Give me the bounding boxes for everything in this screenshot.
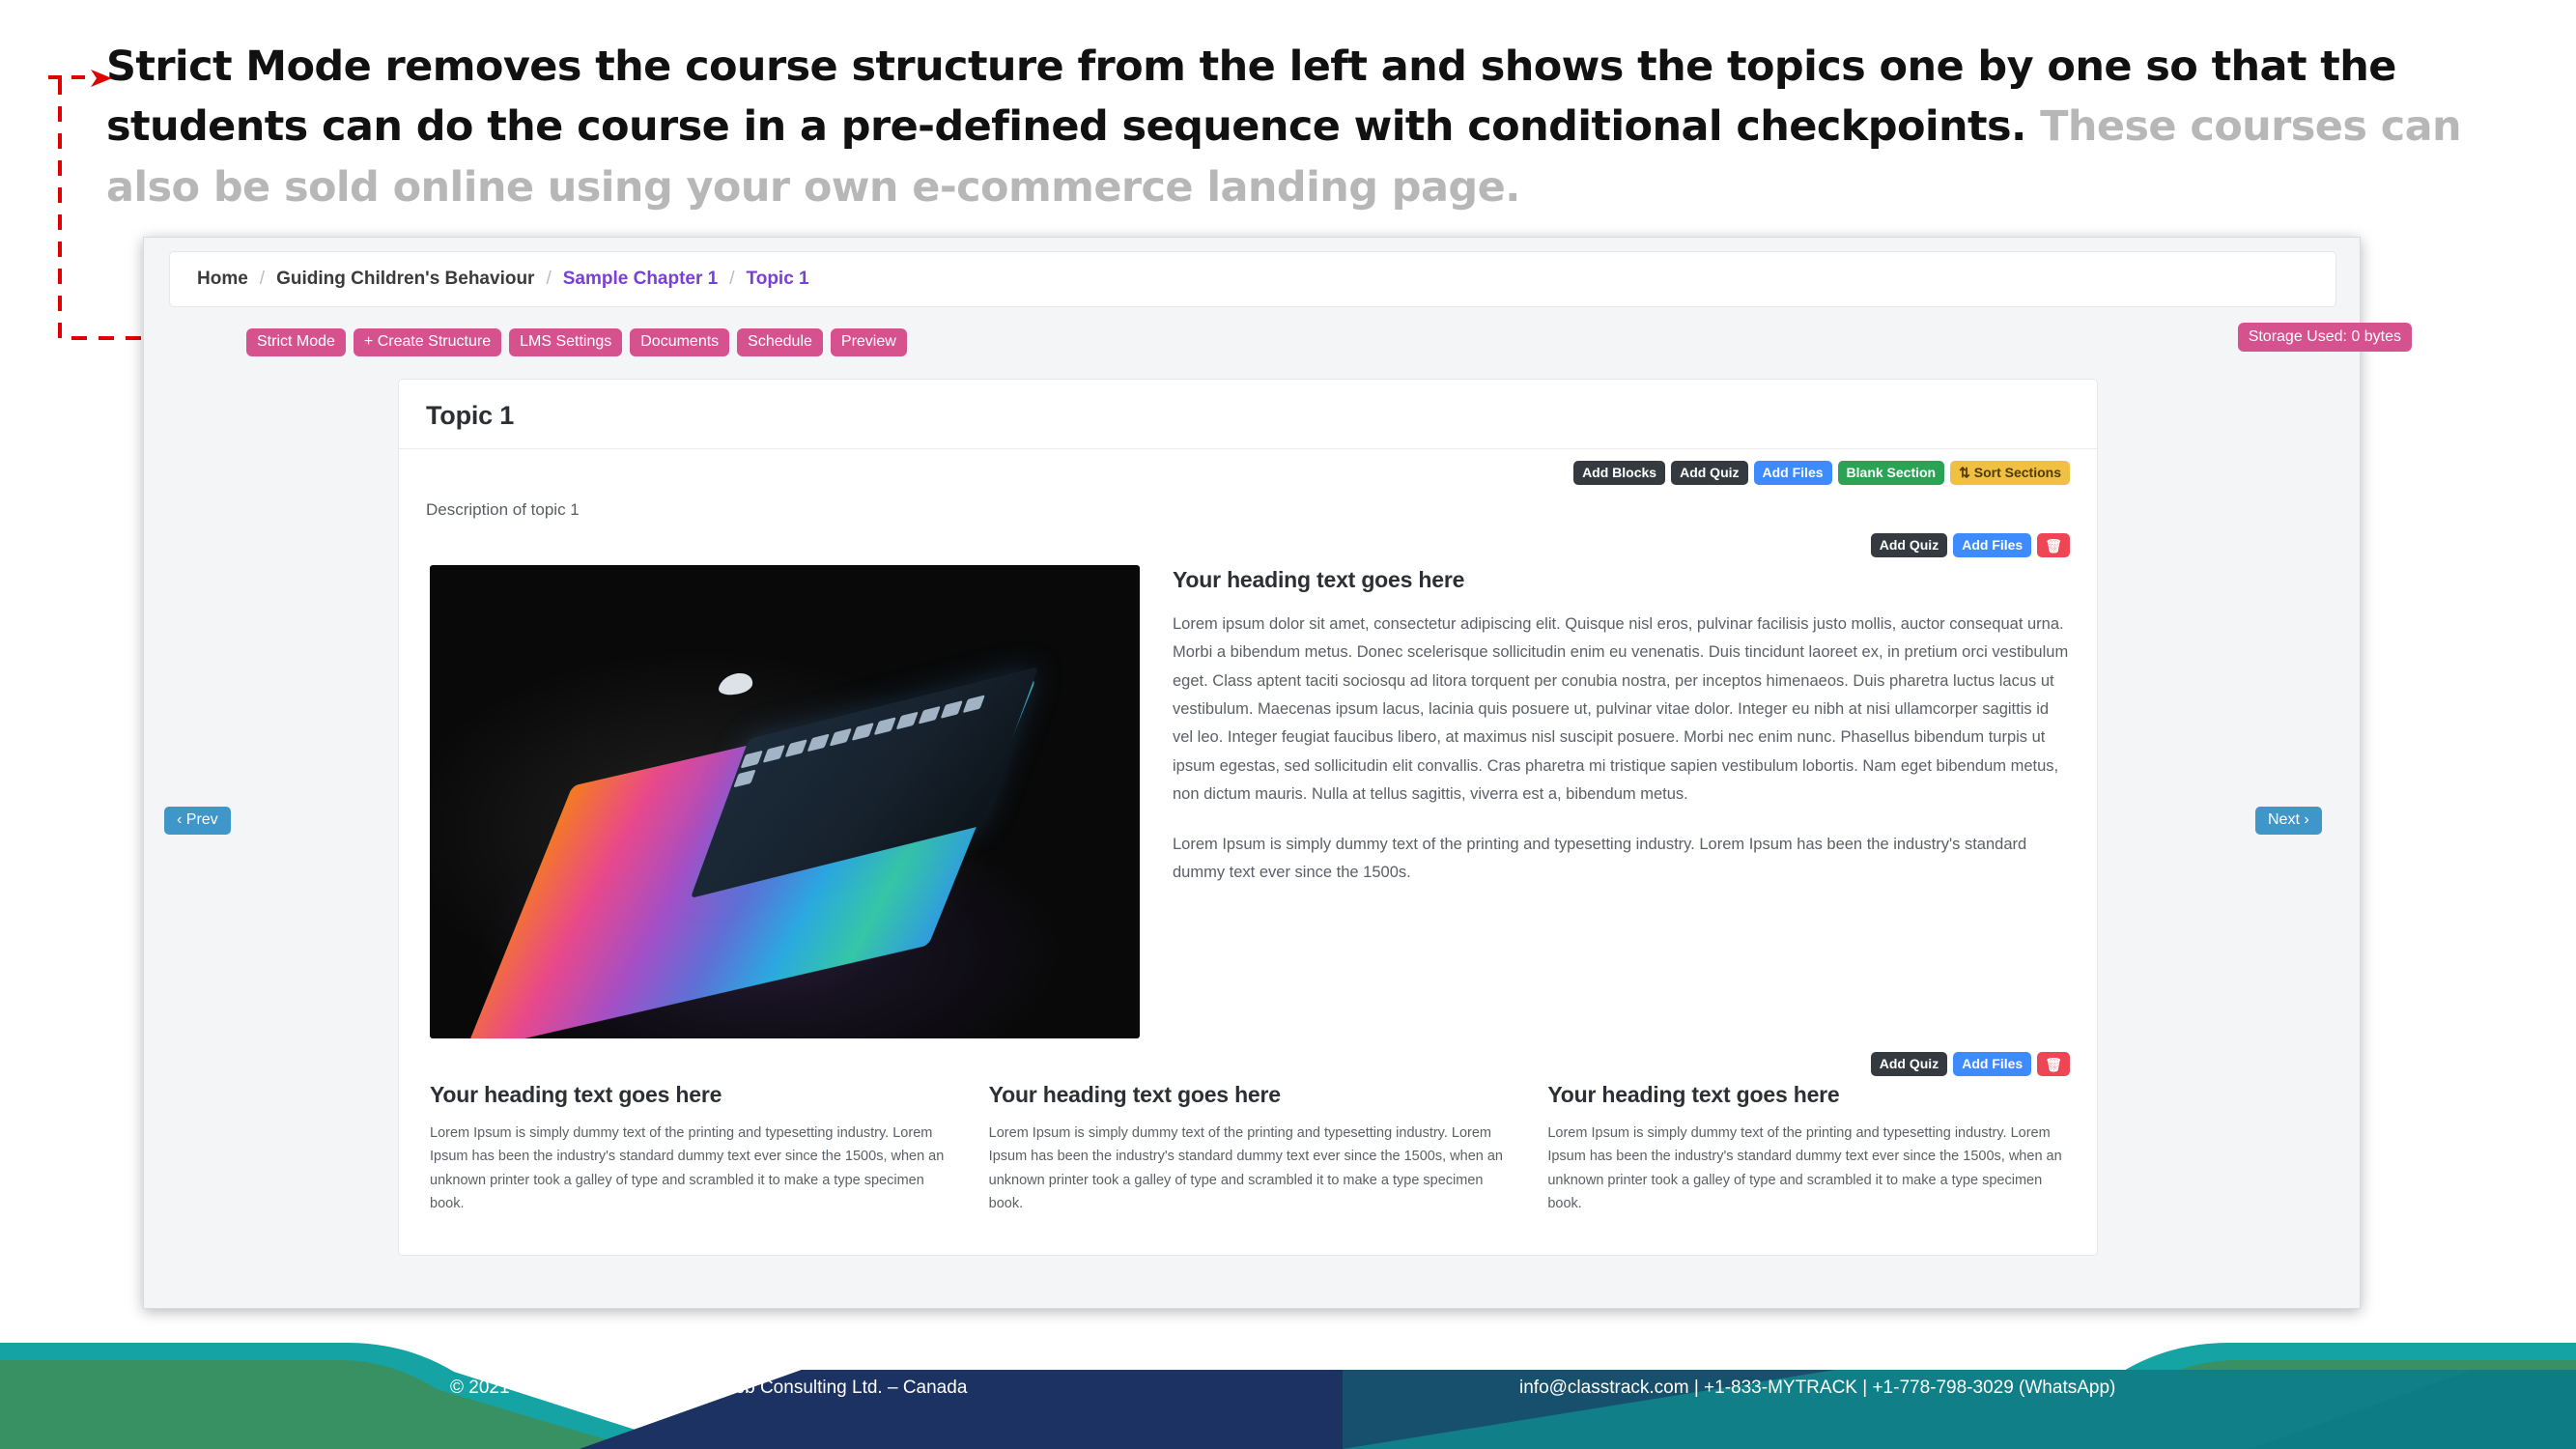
column-body: Lorem Ipsum is simply dummy text of the … bbox=[1547, 1122, 2068, 1215]
breadcrumb-item-chapter[interactable]: Sample Chapter 1 bbox=[563, 269, 719, 290]
slide-footer: © 2021 – Classtrack.com by EduWeb Consul… bbox=[0, 1285, 2576, 1449]
next-button[interactable]: Next › bbox=[2255, 807, 2322, 835]
column-body: Lorem Ipsum is simply dummy text of the … bbox=[430, 1122, 950, 1215]
columns-add-files-button[interactable]: Add Files bbox=[1953, 1052, 2031, 1076]
documents-button[interactable]: Documents bbox=[630, 328, 729, 356]
apple-logo-icon bbox=[718, 671, 755, 696]
preview-button[interactable]: Preview bbox=[831, 328, 907, 356]
blank-section-button[interactable]: Blank Section bbox=[1838, 461, 1945, 485]
breadcrumb-separator: / bbox=[260, 269, 265, 290]
columns-trash-icon[interactable]: 🗑 bbox=[2037, 1052, 2070, 1076]
columns-add-quiz-button[interactable]: Add Quiz bbox=[1871, 1052, 1947, 1076]
add-files-button[interactable]: Add Files bbox=[1754, 461, 1832, 485]
trash-icon[interactable]: 🗑 bbox=[2037, 533, 2070, 557]
footer-decoration bbox=[0, 1285, 2576, 1449]
lms-settings-button[interactable]: LMS Settings bbox=[509, 328, 622, 356]
column-heading: Your heading text goes here bbox=[1547, 1082, 2068, 1108]
topic-description: Description of topic 1 bbox=[399, 485, 2097, 520]
topic-card: Topic 1 Add Blocks Add Quiz Add Files Bl… bbox=[398, 379, 2098, 1256]
laptop-photo bbox=[430, 565, 1140, 1038]
column-3: Your heading text goes here Lorem Ipsum … bbox=[1547, 1082, 2068, 1215]
column-1: Your heading text goes here Lorem Ipsum … bbox=[430, 1082, 950, 1215]
hero-block: Your heading text goes here Lorem ipsum … bbox=[399, 557, 2097, 1038]
breadcrumb-separator: / bbox=[546, 269, 551, 290]
course-toolbar: Strict Mode + Create Structure LMS Setti… bbox=[246, 328, 907, 356]
sort-sections-button[interactable]: ⇅ Sort Sections bbox=[1950, 461, 2070, 485]
add-blocks-button[interactable]: Add Blocks bbox=[1573, 461, 1665, 485]
three-column-block: Your heading text goes here Lorem Ipsum … bbox=[399, 1076, 2097, 1215]
storage-used-badge: Storage Used: 0 bytes bbox=[2238, 323, 2412, 352]
column-2: Your heading text goes here Lorem Ipsum … bbox=[989, 1082, 1510, 1215]
column-body: Lorem Ipsum is simply dummy text of the … bbox=[989, 1122, 1510, 1215]
hero-text: Your heading text goes here Lorem ipsum … bbox=[1173, 565, 2070, 1038]
strict-mode-button[interactable]: Strict Mode bbox=[246, 328, 346, 356]
columns-action-bar: Add Quiz Add Files 🗑 bbox=[399, 1038, 2097, 1076]
prev-button[interactable]: ‹ Prev bbox=[164, 807, 231, 835]
hero-paragraph-1: Lorem ipsum dolor sit amet, consectetur … bbox=[1173, 611, 2070, 810]
hero-heading: Your heading text goes here bbox=[1173, 567, 2070, 593]
storage-used-badge-wrap: Storage Used: 0 bytes bbox=[2238, 328, 2412, 346]
footer-contact-info: info@classtrack.com | +1-833-MYTRACK | +… bbox=[1519, 1378, 2115, 1399]
breadcrumb-item-topic[interactable]: Topic 1 bbox=[747, 269, 809, 290]
breadcrumb-item-home[interactable]: Home bbox=[197, 269, 248, 290]
page-title: Strict Mode removes the course structure… bbox=[106, 37, 2482, 217]
topic-title: Topic 1 bbox=[399, 380, 2097, 448]
add-quiz-button[interactable]: Add Quiz bbox=[1671, 461, 1747, 485]
create-structure-button[interactable]: + Create Structure bbox=[354, 328, 501, 356]
column-heading: Your heading text goes here bbox=[430, 1082, 950, 1108]
block-action-bar: Add Quiz Add Files 🗑 bbox=[399, 520, 2097, 557]
hero-paragraph-2: Lorem Ipsum is simply dummy text of the … bbox=[1173, 831, 2070, 888]
column-heading: Your heading text goes here bbox=[989, 1082, 1510, 1108]
schedule-button[interactable]: Schedule bbox=[737, 328, 823, 356]
slide-root: Strict Mode removes the course structure… bbox=[0, 0, 2576, 1449]
footer-copyright: © 2021 – Classtrack.com by EduWeb Consul… bbox=[450, 1378, 967, 1399]
breadcrumb-item-course[interactable]: Guiding Children's Behaviour bbox=[276, 269, 534, 290]
breadcrumb-separator: / bbox=[729, 269, 734, 290]
section-action-bar: Add Blocks Add Quiz Add Files Blank Sect… bbox=[399, 449, 2097, 485]
breadcrumb: Home / Guiding Children's Behaviour / Sa… bbox=[169, 251, 2336, 307]
block-add-quiz-button[interactable]: Add Quiz bbox=[1871, 533, 1947, 557]
block-add-files-button[interactable]: Add Files bbox=[1953, 533, 2031, 557]
